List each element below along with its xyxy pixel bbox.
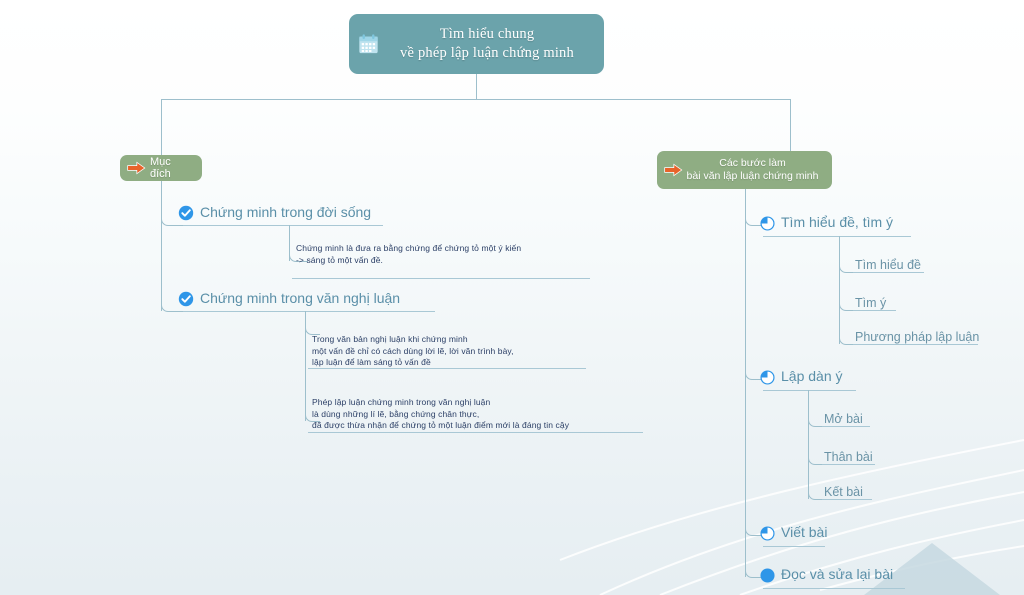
root-label-line1: Tìm hiểu chung bbox=[440, 26, 535, 42]
underline-step-2 bbox=[763, 390, 856, 391]
blue-check-icon bbox=[178, 291, 194, 307]
topic-proof-in-life[interactable]: Chứng minh trong đời sống bbox=[178, 204, 371, 222]
connector-step2-children-spine bbox=[808, 390, 809, 499]
pie-icon-quarter bbox=[760, 526, 775, 541]
topic-proof-in-life-label: Chứng minh trong đời sống bbox=[200, 204, 371, 222]
underline-step-3 bbox=[763, 546, 825, 547]
mindmap-canvas: Tìm hiểu chung về phép lập luận chứng mi… bbox=[0, 0, 1024, 595]
substep-closing[interactable]: Kết bài bbox=[824, 485, 863, 501]
underline-note-3 bbox=[308, 432, 643, 433]
orange-arrow-icon bbox=[126, 159, 146, 177]
connector-step1-child-elbow-2 bbox=[839, 296, 854, 311]
root-label-line2: về phép lập luận chứng minh bbox=[380, 44, 594, 63]
step-write-label: Viết bài bbox=[781, 524, 827, 542]
underline-topic-2 bbox=[183, 311, 435, 312]
note-proof-in-essay-2: Phép lập luận chứng minh trong văn nghị … bbox=[312, 397, 657, 432]
branch-header-purpose-label: Mục đích bbox=[146, 156, 192, 180]
branch-header-steps-line1: Các bước làm bbox=[719, 157, 785, 169]
step-write[interactable]: Viết bài bbox=[760, 524, 827, 542]
connector-right-drop bbox=[790, 99, 791, 151]
substep-find-topic[interactable]: Tìm hiểu đề bbox=[855, 258, 921, 274]
underline-step-1 bbox=[763, 236, 911, 237]
connector-step2-child-elbow-2 bbox=[808, 450, 823, 465]
connector-root-bus bbox=[161, 99, 791, 100]
connector-topic2-elbow-1 bbox=[305, 320, 320, 335]
substep-opening[interactable]: Mở bài bbox=[824, 412, 863, 428]
underline-note-1 bbox=[292, 278, 590, 279]
step-outline[interactable]: Lập dàn ý bbox=[760, 368, 843, 386]
orange-arrow-icon bbox=[663, 161, 683, 179]
blue-check-icon bbox=[178, 205, 194, 221]
underline-step-4 bbox=[763, 588, 905, 589]
note-proof-in-life: Chứng minh là đưa ra bằng chứng để chứng… bbox=[296, 243, 596, 266]
topic-proof-in-essay-label: Chứng minh trong văn nghị luận bbox=[200, 290, 400, 308]
connector-root-stem bbox=[476, 74, 477, 99]
step-read-and-revise-label: Đọc và sửa lại bài bbox=[781, 566, 893, 584]
note-proof-in-essay-1: Trong văn bản nghị luận khi chứng minh m… bbox=[312, 334, 602, 369]
root-label: Tìm hiểu chung về phép lập luận chứng mi… bbox=[380, 25, 594, 63]
underline-topic-1 bbox=[183, 225, 383, 226]
connector-step2-child-elbow-1 bbox=[808, 412, 823, 427]
branch-header-steps-line2: bài văn lập luận chứng minh bbox=[687, 170, 819, 182]
root-node[interactable]: Tìm hiểu chung về phép lập luận chứng mi… bbox=[349, 14, 604, 74]
connector-step1-child-elbow-3 bbox=[839, 330, 854, 345]
pie-icon-half bbox=[760, 568, 775, 583]
step-understand-topic[interactable]: Tìm hiểu đề, tìm ý bbox=[760, 214, 893, 232]
connector-step1-child-elbow-1 bbox=[839, 258, 854, 273]
step-read-and-revise[interactable]: Đọc và sửa lại bài bbox=[760, 566, 893, 584]
connector-step2-child-elbow-3 bbox=[808, 485, 823, 500]
branch-header-steps[interactable]: Các bước làm bài văn lập luận chứng minh bbox=[657, 151, 832, 189]
step-outline-label: Lập dàn ý bbox=[781, 368, 843, 386]
branch-header-steps-label: Các bước làm bài văn lập luận chứng minh bbox=[683, 157, 822, 183]
substep-argument-method[interactable]: Phương pháp lập luận bbox=[855, 330, 979, 346]
pie-icon-quarter bbox=[760, 216, 775, 231]
calendar-icon bbox=[357, 33, 380, 55]
topic-proof-in-essay[interactable]: Chứng minh trong văn nghị luận bbox=[178, 290, 400, 308]
substep-find-ideas[interactable]: Tìm ý bbox=[855, 296, 886, 312]
pie-icon-quarter bbox=[760, 370, 775, 385]
branch-header-purpose[interactable]: Mục đích bbox=[120, 155, 202, 181]
step-understand-topic-label: Tìm hiểu đề, tìm ý bbox=[781, 214, 893, 232]
connector-step1-children-spine bbox=[839, 236, 840, 344]
substep-body[interactable]: Thân bài bbox=[824, 450, 873, 466]
